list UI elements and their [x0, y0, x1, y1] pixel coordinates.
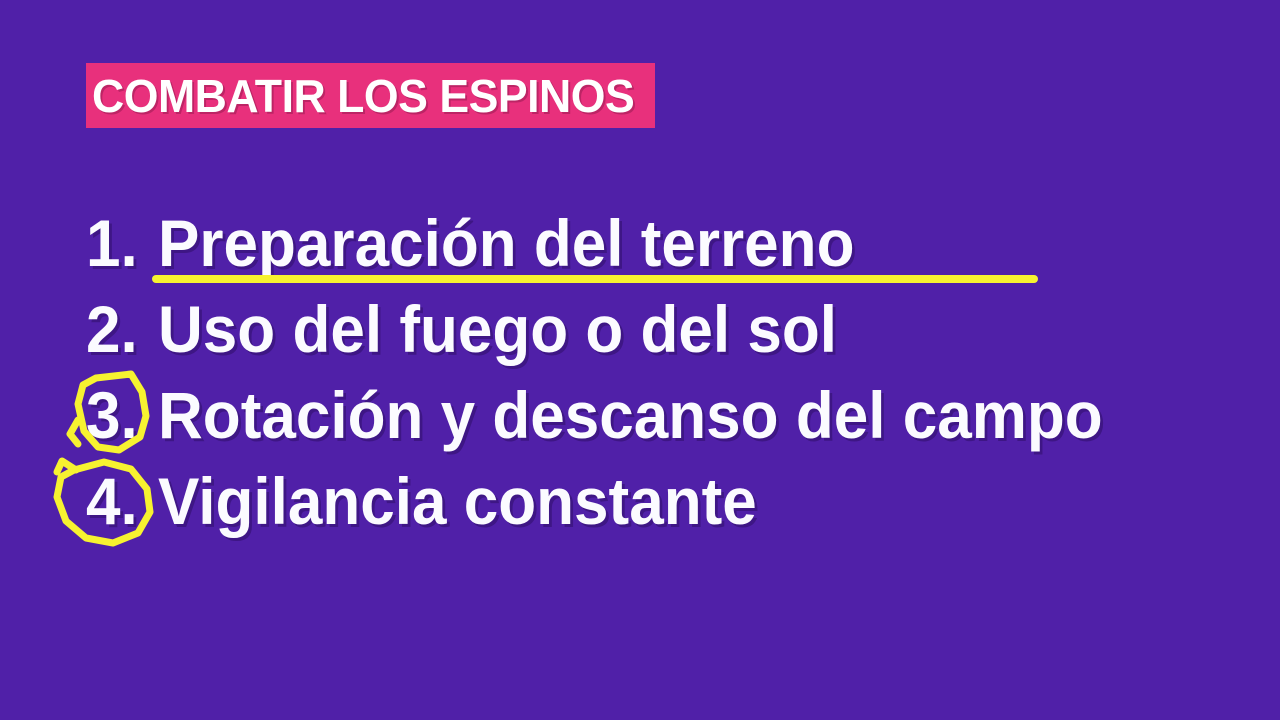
- list-item: 1. Preparación del terreno: [86, 200, 1246, 286]
- circle-4-tail-icon: [57, 461, 76, 472]
- list-item-number: 4.: [86, 468, 154, 534]
- circle-3-tail-icon: [70, 420, 78, 444]
- slide-canvas: COMBATIR LOS ESPINOS 1. Preparación del …: [0, 0, 1280, 720]
- list-item-label: Uso del fuego o del sol: [158, 296, 837, 362]
- list-item: 2. Uso del fuego o del sol: [86, 286, 1246, 372]
- page-title: COMBATIR LOS ESPINOS: [92, 73, 634, 119]
- list-item: 3. Rotación y descanso del campo: [86, 372, 1246, 458]
- list-item-number: 3.: [86, 382, 154, 448]
- numbered-list: 1. Preparación del terreno 2. Uso del fu…: [86, 200, 1246, 544]
- list-item-number: 2.: [86, 296, 154, 362]
- list-item-label: Preparación del terreno: [158, 210, 854, 276]
- slide-title-highlight: COMBATIR LOS ESPINOS: [86, 63, 655, 128]
- list-item-number: 1.: [86, 210, 154, 276]
- list-item: 4. Vigilancia constante: [86, 458, 1246, 544]
- list-item-label: Rotación y descanso del campo: [158, 382, 1103, 448]
- list-item-label: Vigilancia constante: [158, 468, 757, 534]
